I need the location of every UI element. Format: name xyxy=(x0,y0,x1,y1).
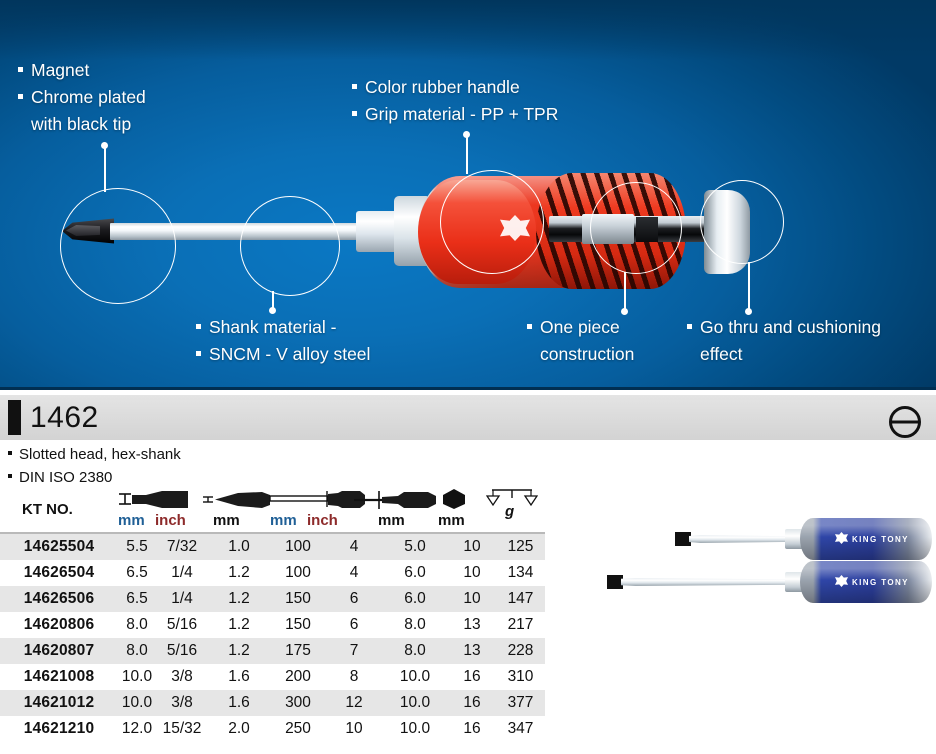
table-row[interactable]: 1462101210.03/81.63001210.016377 xyxy=(0,690,545,716)
bullet-icon xyxy=(196,324,201,329)
cell-th_mm: 2.0 xyxy=(208,716,270,742)
cell-kt: 14621210 xyxy=(0,716,118,742)
callout-line: Chrome plated xyxy=(18,84,146,111)
unit-label-inch: inch xyxy=(155,512,186,529)
spec-table-grid: 146255045.57/321.010045.010125146265046.… xyxy=(0,534,545,742)
table-row[interactable]: 146208078.05/161.217578.013228 xyxy=(0,638,545,664)
callout-text: construction xyxy=(540,344,634,364)
blade-thickness-icon xyxy=(200,490,278,510)
table-row[interactable]: 146208068.05/161.215068.013217 xyxy=(0,612,545,638)
cell-kt: 14626506 xyxy=(0,586,118,612)
cell-kt: 14621012 xyxy=(0,690,118,716)
cell-bw_in: 7/32 xyxy=(156,534,208,560)
cell-weight_g: 134 xyxy=(496,560,545,586)
callout-ring-shank xyxy=(240,196,340,296)
leader-dot-magnet xyxy=(101,142,108,149)
cell-bl_in: 6 xyxy=(326,612,382,638)
cell-weight_g: 347 xyxy=(496,716,545,742)
callout-line: Color rubber handle xyxy=(352,74,558,101)
screwdriver-hex-bolster xyxy=(356,211,398,252)
bullet-icon xyxy=(352,84,357,89)
cell-weight_g: 377 xyxy=(496,690,545,716)
cell-bl_mm: 250 xyxy=(270,716,326,742)
bullet-icon xyxy=(527,324,532,329)
cell-bw_mm: 6.5 xyxy=(118,586,156,612)
cell-bw_in: 1/4 xyxy=(156,560,208,586)
bullet-icon xyxy=(352,111,357,116)
cell-hex_mm: 16 xyxy=(448,690,496,716)
callout-ring-one-piece xyxy=(590,182,682,274)
spec-item: DIN ISO 2380 xyxy=(8,466,181,489)
bullet-icon xyxy=(18,94,23,99)
cell-ol_mm: 10.0 xyxy=(382,664,448,690)
table-row[interactable]: 1462100810.03/81.6200810.016310 xyxy=(0,664,545,690)
product-header-marker xyxy=(8,400,21,435)
photo-tip-long xyxy=(607,575,623,589)
cell-bl_in: 4 xyxy=(326,534,382,560)
cell-bw_in: 5/16 xyxy=(156,638,208,664)
callout-text: Color rubber handle xyxy=(365,77,520,97)
cell-weight_g: 228 xyxy=(496,638,545,664)
cell-bw_in: 3/8 xyxy=(156,664,208,690)
cell-bl_mm: 100 xyxy=(270,534,326,560)
cell-hex_mm: 16 xyxy=(448,716,496,742)
cell-bl_mm: 200 xyxy=(270,664,326,690)
cell-kt: 14625504 xyxy=(0,534,118,560)
hero-top-shade xyxy=(0,0,936,60)
unit-label-inch: inch xyxy=(307,512,338,529)
cell-th_mm: 1.6 xyxy=(208,664,270,690)
callout-line: construction xyxy=(527,341,634,368)
cell-ol_mm: 8.0 xyxy=(382,638,448,664)
spec-item: Slotted head, hex-shank xyxy=(8,443,181,466)
cell-hex_mm: 10 xyxy=(448,534,496,560)
unit-label-mm: mm xyxy=(270,512,297,529)
slotted-screw-head-icon xyxy=(888,405,922,439)
callout-line: One piece xyxy=(527,314,634,341)
callout-line: Magnet xyxy=(18,57,146,84)
callout-line: Shank material - xyxy=(196,314,370,341)
cell-ol_mm: 6.0 xyxy=(382,560,448,586)
bullet-icon xyxy=(196,351,201,356)
cell-th_mm: 1.2 xyxy=(208,612,270,638)
cell-ol_mm: 5.0 xyxy=(382,534,448,560)
photo-tip-short xyxy=(675,532,691,546)
callout-text: Go thru and cushioning xyxy=(700,317,881,337)
callout-line: effect xyxy=(687,341,881,368)
cell-bw_mm: 10.0 xyxy=(118,690,156,716)
callout-line: with black tip xyxy=(18,111,146,138)
cell-bl_mm: 150 xyxy=(270,586,326,612)
callout-line: SNCM - V alloy steel xyxy=(196,341,370,368)
cell-bw_mm: 6.5 xyxy=(118,560,156,586)
cell-hex_mm: 10 xyxy=(448,586,496,612)
cell-th_mm: 1.2 xyxy=(208,586,270,612)
callout-ring-go-thru xyxy=(700,180,784,264)
unit-label-mm: mm xyxy=(118,512,145,529)
cell-kt: 14626504 xyxy=(0,560,118,586)
callout-text: with black tip xyxy=(31,114,131,134)
cell-bw_mm: 12.0 xyxy=(118,716,156,742)
callout-shank-material: Shank material - SNCM - V alloy steel xyxy=(196,314,370,368)
cell-ol_mm: 8.0 xyxy=(382,612,448,638)
leader-dot-shank xyxy=(269,307,276,314)
leader-line-go-thru xyxy=(748,262,750,314)
cell-th_mm: 1.2 xyxy=(208,638,270,664)
cell-th_mm: 1.0 xyxy=(208,534,270,560)
cell-bl_in: 7 xyxy=(326,638,382,664)
cell-bl_mm: 100 xyxy=(270,560,326,586)
cell-bl_mm: 175 xyxy=(270,638,326,664)
callout-text: effect xyxy=(700,344,743,364)
cell-th_mm: 1.2 xyxy=(208,560,270,586)
callout-line: Grip material - PP + TPR xyxy=(352,101,558,128)
cell-bl_in: 6 xyxy=(326,586,382,612)
column-header-kt-no: KT NO. xyxy=(22,501,73,518)
blade-width-icon xyxy=(116,490,194,510)
bullet-icon xyxy=(8,451,12,455)
callout-text: Magnet xyxy=(31,60,89,80)
callout-ring-handle xyxy=(440,170,544,274)
cell-bw_mm: 5.5 xyxy=(118,534,156,560)
leader-line-magnet xyxy=(104,146,106,192)
cell-bw_mm: 8.0 xyxy=(118,638,156,664)
unit-label-mm: mm xyxy=(378,512,405,529)
callout-go-thru: Go thru and cushioning effect xyxy=(687,314,881,368)
callout-ring-magnet xyxy=(60,188,176,304)
table-row[interactable]: 1462121012.015/322.02501010.016347 xyxy=(0,716,545,742)
leader-dot-handle xyxy=(463,131,470,138)
cell-bl_in: 4 xyxy=(326,560,382,586)
callout-text: Grip material - PP + TPR xyxy=(365,104,558,124)
cell-bw_in: 1/4 xyxy=(156,586,208,612)
cell-weight_g: 125 xyxy=(496,534,545,560)
cell-bl_mm: 150 xyxy=(270,612,326,638)
cell-hex_mm: 16 xyxy=(448,664,496,690)
cell-bl_in: 10 xyxy=(326,716,382,742)
table-row[interactable]: 146265046.51/41.210046.010134 xyxy=(0,560,545,586)
photo-blade-long xyxy=(621,578,803,586)
bullet-icon xyxy=(8,474,12,478)
spec-table-header: KT NO. mm inch mm xyxy=(0,490,545,534)
hex-bolster-icon xyxy=(434,488,474,510)
table-row[interactable]: 146255045.57/321.010045.010125 xyxy=(0,534,545,560)
cell-bl_mm: 300 xyxy=(270,690,326,716)
cell-bl_in: 12 xyxy=(326,690,382,716)
callout-text: Chrome plated xyxy=(31,87,146,107)
product-spec-list: Slotted head, hex-shank DIN ISO 2380 xyxy=(8,443,181,490)
cell-ol_mm: 10.0 xyxy=(382,690,448,716)
callout-text: One piece xyxy=(540,317,620,337)
cell-bw_in: 15/32 xyxy=(156,716,208,742)
cell-th_mm: 1.6 xyxy=(208,690,270,716)
cell-ol_mm: 10.0 xyxy=(382,716,448,742)
cell-bw_mm: 8.0 xyxy=(118,612,156,638)
product-datasheet-page: Magnet Chrome plated with black tip Colo… xyxy=(0,0,936,754)
photo-brand-label-long: KING TONY xyxy=(852,578,909,587)
cell-weight_g: 310 xyxy=(496,664,545,690)
leader-line-handle xyxy=(466,134,468,174)
spec-text: Slotted head, hex-shank xyxy=(19,446,181,463)
product-code: 1462 xyxy=(30,400,99,435)
callout-line: Go thru and cushioning xyxy=(687,314,881,341)
cell-hex_mm: 13 xyxy=(448,612,496,638)
unit-label-mm: mm xyxy=(438,512,465,529)
unit-label-mm: mm xyxy=(213,512,240,529)
cell-bw_in: 5/16 xyxy=(156,612,208,638)
hero-banner: Magnet Chrome plated with black tip Colo… xyxy=(0,0,936,390)
cell-bw_mm: 10.0 xyxy=(118,664,156,690)
cell-kt: 14620806 xyxy=(0,612,118,638)
callout-text: SNCM - V alloy steel xyxy=(209,344,370,364)
callout-text: Shank material - xyxy=(209,317,336,337)
cell-ol_mm: 6.0 xyxy=(382,586,448,612)
cell-weight_g: 147 xyxy=(496,586,545,612)
spec-table: KT NO. mm inch mm xyxy=(0,490,545,742)
cell-kt: 14620807 xyxy=(0,638,118,664)
overall-length-icon xyxy=(352,490,444,510)
spec-text: DIN ISO 2380 xyxy=(19,469,112,486)
callout-handle-grip: Color rubber handle Grip material - PP +… xyxy=(352,74,558,128)
callout-one-piece: One piece construction xyxy=(527,314,634,368)
cell-hex_mm: 13 xyxy=(448,638,496,664)
callout-magnet-chrome: Magnet Chrome plated with black tip xyxy=(18,57,146,138)
unit-label-g: g xyxy=(505,503,514,520)
bullet-icon xyxy=(18,67,23,72)
cell-bw_in: 3/8 xyxy=(156,690,208,716)
product-header-band xyxy=(0,395,936,440)
cell-kt: 14621008 xyxy=(0,664,118,690)
cell-weight_g: 217 xyxy=(496,612,545,638)
table-row[interactable]: 146265066.51/41.215066.010147 xyxy=(0,586,545,612)
cell-hex_mm: 10 xyxy=(448,560,496,586)
cell-bl_in: 8 xyxy=(326,664,382,690)
photo-brand-label-short: KING TONY xyxy=(852,535,909,544)
bullet-icon xyxy=(687,324,692,329)
